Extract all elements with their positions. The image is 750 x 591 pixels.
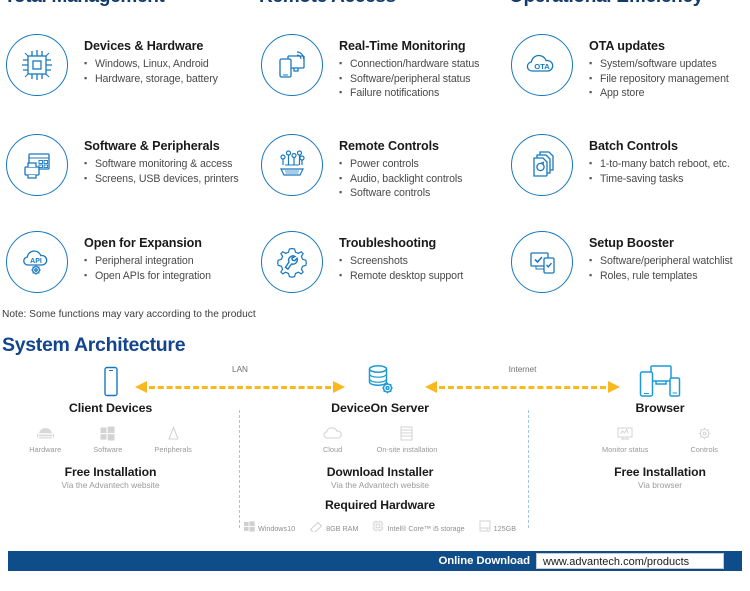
list-item: Software monitoring & access: [84, 157, 239, 172]
hw-item: Intel® Core™ i5 storage: [372, 519, 464, 537]
list-item: Remote desktop support: [339, 269, 463, 284]
required-hardware-list: Windows10 8GB RAM: [235, 519, 525, 537]
column-header-operational-efficiency: Operational Efficiency: [505, 0, 750, 8]
product-note: Note: Some functions may vary according …: [2, 309, 256, 320]
hw-item-label: Intel® Core™ i5 storage: [387, 524, 464, 533]
feature-title: Real-Time Monitoring: [339, 39, 479, 53]
hw-item: 125GB: [479, 519, 516, 537]
feature-title: Batch Controls: [589, 139, 730, 153]
feature-title: Devices & Hardware: [84, 39, 218, 53]
online-download-label: Online Download: [438, 555, 536, 567]
required-hardware-title: Required Hardware: [300, 498, 460, 512]
client-block-sub: Via the Advantech website: [18, 480, 203, 490]
feature-text: Open for Expansion Peripheral integratio…: [68, 227, 211, 283]
svg-text:OTA: OTA: [534, 62, 550, 71]
sub-item: Hardware: [29, 424, 61, 454]
sub-item-label: Software: [93, 445, 122, 454]
feature-bullets: Windows, Linux, Android Hardware, storag…: [84, 57, 218, 86]
list-item: Open APIs for integration: [84, 269, 211, 284]
circuit-controls-icon: [261, 134, 323, 196]
feature-card-real-time-monitoring: Real-Time Monitoring Connection/hardware…: [255, 30, 505, 130]
feature-text: Devices & Hardware Windows, Linux, Andro…: [68, 30, 218, 86]
feature-title: Troubleshooting: [339, 236, 463, 250]
column-header-remote-access: Remote Access: [255, 0, 505, 8]
list-item: Windows, Linux, Android: [84, 57, 218, 72]
sub-item-label: Monitor status: [602, 445, 648, 454]
feature-text: Batch Controls 1-to-many batch reboot, e…: [573, 130, 730, 186]
feature-bullets: Connection/hardware status Software/peri…: [339, 57, 479, 101]
feature-grid: Devices & Hardware Windows, Linux, Andro…: [0, 30, 750, 317]
feature-bullets: Software monitoring & access Screens, US…: [84, 157, 239, 186]
sub-item-label: Hardware: [29, 445, 61, 454]
feature-row: Devices & Hardware Windows, Linux, Andro…: [0, 30, 750, 130]
list-item: Power controls: [339, 157, 462, 172]
link-internet: Internet: [425, 378, 620, 398]
node-title: Client Devices: [18, 401, 203, 415]
feature-card-remote-controls: Remote Controls Power controls Audio, ba…: [255, 130, 505, 227]
sub-item-label: Controls: [690, 445, 718, 454]
sub-item: Peripherals: [154, 424, 191, 454]
list-item: Roles, rule templates: [589, 269, 733, 284]
link-lan: LAN: [135, 378, 345, 398]
list-item: Hardware, storage, battery: [84, 72, 218, 87]
window-printer-icon: [6, 134, 68, 196]
link-lan-label: LAN: [135, 365, 345, 374]
online-download-url[interactable]: www.advantech.com/products: [536, 553, 724, 569]
monitor-status-icon: [602, 424, 648, 443]
hw-item: Windows10: [244, 519, 295, 537]
browser-block-sub: Via browser: [580, 480, 740, 490]
feature-text: Software & Peripherals Software monitori…: [68, 130, 239, 186]
list-item: App store: [589, 86, 729, 101]
cpu-icon: [372, 519, 384, 537]
feature-bullets: Screenshots Remote desktop support: [339, 254, 463, 283]
list-item: Screens, USB devices, printers: [84, 172, 239, 187]
server-rack-icon: [377, 424, 438, 443]
feature-bullets: Power controls Audio, backlight controls…: [339, 157, 462, 201]
sub-item: Controls: [690, 424, 718, 454]
server-block-title: Download Installer: [300, 465, 460, 479]
list-item: Audio, backlight controls: [339, 172, 462, 187]
feature-title: Open for Expansion: [84, 236, 211, 250]
column-headers: Total Management Remote Access Operation…: [0, 0, 750, 8]
link-internet-label: Internet: [425, 365, 620, 374]
feature-text: Setup Booster Software/peripheral watchl…: [573, 227, 733, 283]
feature-title: Software & Peripherals: [84, 139, 239, 153]
browser-sub-items: Monitor status Controls: [580, 424, 740, 454]
feature-bullets: Peripheral integration Open APIs for int…: [84, 254, 211, 283]
arrow-line: [149, 386, 331, 389]
sub-item: On-site installation: [377, 424, 438, 454]
svg-text:API: API: [30, 258, 42, 265]
windows-logo-icon: [244, 519, 255, 537]
arrow-line: [439, 386, 606, 389]
sub-item-label: Cloud: [323, 445, 343, 454]
feature-card-setup-booster: Setup Booster Software/peripheral watchl…: [505, 227, 750, 317]
chip-icon: [6, 34, 68, 96]
cloud-icon: [323, 424, 343, 443]
sub-item: Software: [93, 424, 122, 454]
node-title: Browser: [580, 401, 740, 415]
feature-bullets: System/software updates File repository …: [589, 57, 729, 101]
feature-text: Troubleshooting Screenshots Remote deskt…: [323, 227, 463, 283]
gear-controls-icon: [690, 424, 718, 443]
footer-bar: Online Download www.advantech.com/produc…: [8, 551, 742, 571]
list-item: 1-to-many batch reboot, etc.: [589, 157, 730, 172]
software-peripherals-icon: [261, 34, 323, 96]
gear-wrench-icon: [261, 231, 323, 293]
sub-item: Cloud: [323, 424, 343, 454]
column-header-total-management: Total Management: [0, 0, 255, 8]
feature-title: OTA updates: [589, 39, 729, 53]
client-block-title: Free Installation: [18, 465, 203, 479]
storage-disk-icon: [479, 519, 491, 537]
hw-item-label: 8GB RAM: [326, 524, 358, 533]
server-block-sub: Via the Advantech website: [300, 480, 460, 490]
sub-item-label: On-site installation: [377, 445, 438, 454]
feature-text: Remote Controls Power controls Audio, ba…: [323, 130, 462, 201]
stacked-pages-refresh-icon: [511, 134, 573, 196]
feature-text: OTA updates System/software updates File…: [573, 30, 729, 101]
list-item: Time-saving tasks: [589, 172, 730, 187]
cloud-ota-icon: OTA: [511, 34, 573, 96]
hw-item-label: Windows10: [258, 524, 295, 533]
cloud-api-gear-icon: API: [6, 231, 68, 293]
list-item: Software controls: [339, 186, 462, 201]
browser-block-title: Free Installation: [580, 465, 740, 479]
feature-title: Setup Booster: [589, 236, 733, 250]
list-item: Failure notifications: [339, 86, 479, 101]
arrow-head-left-icon: [135, 381, 147, 393]
android-robot-icon: [29, 424, 61, 443]
feature-row: API Open for Expansion Peripheral integr…: [0, 227, 750, 317]
sub-item-label: Peripherals: [154, 445, 191, 454]
feature-card-ota-updates: OTA OTA updates System/software updates …: [505, 30, 750, 130]
divider-right: [528, 410, 529, 528]
arrow-head-right-icon: [333, 381, 345, 393]
hw-item-label: 125GB: [494, 524, 516, 533]
feature-title: Remote Controls: [339, 139, 462, 153]
server-sub-items: Cloud On-site installation: [300, 424, 460, 454]
client-sub-items: Hardware Software: [18, 424, 203, 454]
list-item: Software/peripheral status: [339, 72, 479, 87]
list-item: Software/peripheral watchlist: [589, 254, 733, 269]
feature-card-troubleshooting: Troubleshooting Screenshots Remote deskt…: [255, 227, 505, 317]
windows-logo-icon: [93, 424, 122, 443]
sub-item: Monitor status: [602, 424, 648, 454]
feature-bullets: Software/peripheral watchlist Roles, rul…: [589, 254, 733, 283]
list-item: Screenshots: [339, 254, 463, 269]
hw-item: 8GB RAM: [309, 519, 358, 537]
node-title: DeviceOn Server: [300, 401, 460, 415]
list-item: Peripheral integration: [84, 254, 211, 269]
list-item: Connection/hardware status: [339, 57, 479, 72]
list-item: File repository management: [589, 72, 729, 87]
feature-card-batch-controls: Batch Controls 1-to-many batch reboot, e…: [505, 130, 750, 227]
divider-left: [239, 410, 240, 528]
feature-row: Software & Peripherals Software monitori…: [0, 130, 750, 227]
list-item: System/software updates: [589, 57, 729, 72]
memory-stick-icon: [309, 519, 323, 537]
feature-text: Real-Time Monitoring Connection/hardware…: [323, 30, 479, 101]
feature-card-devices-hardware: Devices & Hardware Windows, Linux, Andro…: [0, 30, 255, 130]
feature-card-open-for-expansion: API Open for Expansion Peripheral integr…: [0, 227, 255, 317]
feature-bullets: 1-to-many batch reboot, etc. Time-saving…: [589, 157, 730, 186]
datasheet-page: Total Management Remote Access Operation…: [0, 0, 750, 591]
arrow-head-right-icon: [608, 381, 620, 393]
page-title: System Architecture: [2, 334, 185, 357]
arrow-head-left-icon: [425, 381, 437, 393]
peripheral-icon: [154, 424, 191, 443]
architecture-diagram: Client Devices Hardware: [0, 362, 750, 532]
feature-card-software-peripherals: Software & Peripherals Software monitori…: [0, 130, 255, 227]
devices-checklist-icon: [511, 231, 573, 293]
